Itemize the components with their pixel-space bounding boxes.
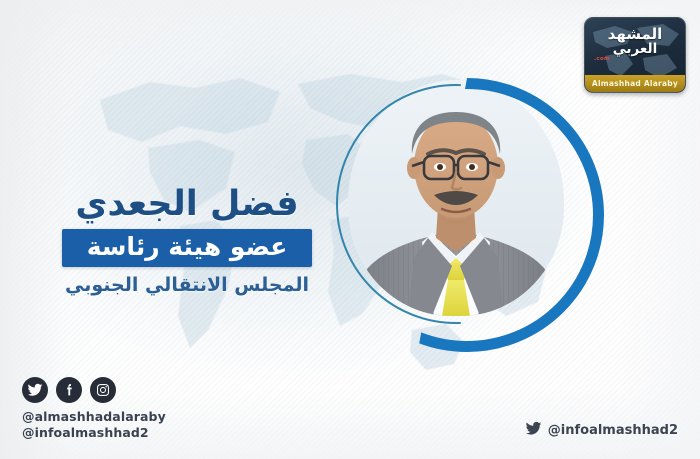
logo-dotcom-text: .com (594, 56, 610, 62)
logo-line-2: العربي (585, 43, 685, 57)
promo-card: المشهد العربي .com Almashhad Alaraby (0, 0, 700, 459)
social-handle-primary[interactable]: @almashhadalaraby (22, 409, 166, 425)
brand-logo: المشهد العربي .com Almashhad Alaraby (584, 17, 686, 93)
instagram-icon[interactable] (90, 377, 116, 403)
social-block: @almashhadalaraby @infoalmashhad2 (22, 377, 166, 441)
portrait-container (336, 84, 576, 324)
organization-name: المجلس الانتقالي الجنوبي (62, 275, 312, 296)
social-handle-secondary[interactable]: @infoalmashhad2 (22, 425, 166, 441)
logo-arabic-text: المشهد العربي (585, 27, 685, 57)
role-banner: عضو هيئة رئاسة (62, 229, 312, 267)
logo-strip-label: Almashhad Alaraby (585, 75, 685, 92)
bottom-right-handle[interactable]: @infoalmashhad2 (525, 420, 678, 441)
bottom-right-handle-text: @infoalmashhad2 (548, 423, 678, 438)
facebook-icon[interactable] (56, 377, 82, 403)
subject-name: فضل الجعدي (62, 186, 312, 223)
twitter-bird-icon (525, 420, 542, 441)
logo-line-1: المشهد (608, 25, 663, 43)
twitter-icon[interactable] (22, 377, 48, 403)
social-icon-row (22, 377, 166, 403)
role-banner-text: عضو هيئة رئاسة (70, 234, 304, 260)
subject-text-block: فضل الجعدي عضو هيئة رئاسة المجلس الانتقا… (62, 186, 312, 296)
